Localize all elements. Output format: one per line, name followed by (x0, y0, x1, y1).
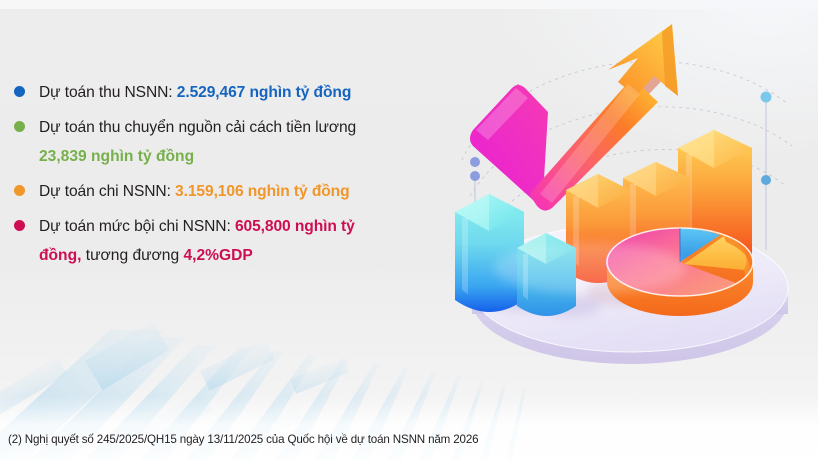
bullet-label-4: Dự toán mức bội chi NSNN: (39, 218, 231, 235)
bullet-label-3: Dự toán chi NSNN: (39, 183, 171, 200)
bullet-value-1: 2.529,467 nghìn tỷ đồng (177, 84, 351, 101)
bullet-value-3: 3.159,106 nghìn tỷ đồng (175, 183, 349, 200)
bullet-value-4-gdp: 4,2%GDP (183, 247, 252, 264)
bullet-text-4: Dự toán mức bội chi NSNN: 605,800 nghìn … (39, 212, 460, 241)
list-item: Dự toán thu chuyển nguồn cải cách tiền l… (8, 113, 460, 171)
marker-dot-right-upper (761, 92, 772, 103)
slide-canvas: Dự toán thu NSNN: 2.529,467 nghìn tỷ đồn… (0, 0, 818, 460)
bullet-text-3: Dự toán chi NSNN: 3.159,106 nghìn tỷ đồn… (39, 177, 460, 206)
list-item: Dự toán mức bội chi NSNN: 605,800 nghìn … (8, 212, 460, 271)
bullet-dot-blue (14, 86, 25, 97)
marker-dot-left-upper (470, 157, 480, 167)
bullet-value-4: 605,800 nghìn tỷ (235, 218, 355, 235)
bullet-mid-4: tương đương (81, 247, 183, 264)
bullet-value-2: 23,839 nghìn tỷ đồng (39, 148, 194, 165)
illustration-svg (440, 0, 818, 410)
bullet-label-2: Dự toán thu chuyển nguồn cải cách tiền l… (39, 113, 460, 142)
bullet-text-2b: 23,839 nghìn tỷ đồng (39, 142, 460, 171)
list-item: Dự toán thu NSNN: 2.529,467 nghìn tỷ đồn… (8, 78, 460, 107)
marker-right-group (761, 92, 772, 251)
footnote: (2) Nghị quyết số 245/2025/QH15 ngày 13/… (8, 433, 478, 446)
illustration-3d-growth-chart (440, 0, 818, 410)
bullet-dot-orange (14, 185, 25, 196)
footer-fade (0, 396, 818, 460)
bullet-dot-green (14, 121, 25, 132)
bullet-text-4b: đồng, tương đương 4,2%GDP (39, 241, 460, 271)
bullet-value-4-cont: đồng, (39, 247, 81, 264)
list-item: Dự toán chi NSNN: 3.159,106 nghìn tỷ đồn… (8, 177, 460, 206)
marker-dot-right-lower (761, 175, 771, 185)
platform-gloss (494, 242, 686, 294)
marker-dot-left-lower (470, 171, 480, 181)
bullet-list: Dự toán thu NSNN: 2.529,467 nghìn tỷ đồn… (8, 78, 460, 277)
bullet-label-1: Dự toán thu NSNN: (39, 84, 173, 101)
bullet-text-1: Dự toán thu NSNN: 2.529,467 nghìn tỷ đồn… (39, 78, 460, 107)
bullet-dot-crimson (14, 220, 25, 231)
